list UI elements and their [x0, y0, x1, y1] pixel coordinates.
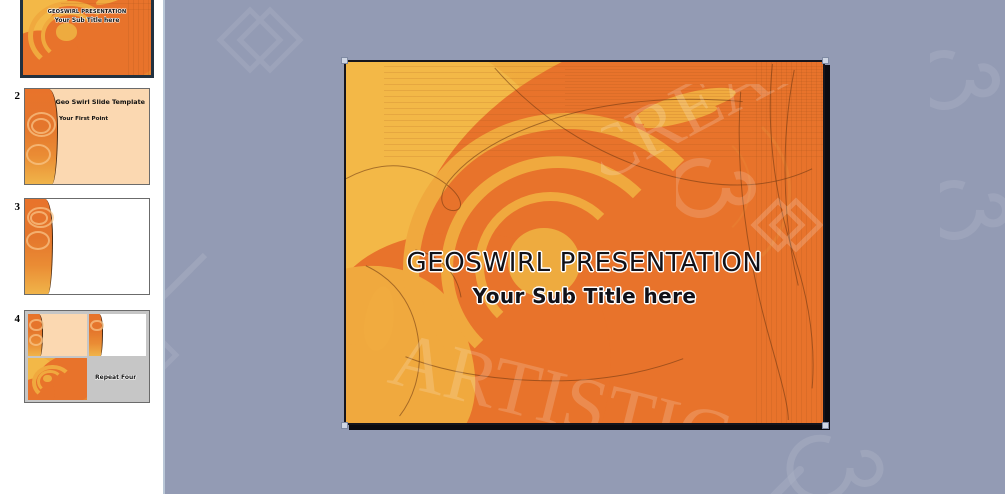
thumb1-subtitle: Your Sub Title here — [23, 17, 151, 24]
watermark-diamond-pattern-top — [210, 0, 330, 80]
thumbnail-row-3[interactable]: 3 — [0, 198, 163, 298]
slide-watermark-artistic: ARTISTIC — [386, 290, 786, 423]
svg-text:ARTISTIC: ARTISTIC — [386, 314, 739, 423]
slide-handle-top-left[interactable] — [341, 57, 348, 64]
powerpoint-window: GEOSWIRL PRESENTATION Your Sub Title her… — [0, 0, 1005, 494]
thumb4-cell-bottom-right: Repeat Four — [89, 358, 146, 400]
thumb4-art-tl — [28, 314, 87, 356]
slide-subtitle[interactable]: Your Sub Title here — [346, 284, 823, 308]
slide-thumbnail-2[interactable]: Geo Swirl Slide Template Your First Poin… — [24, 88, 150, 185]
thumb2-bullet: Your First Point — [59, 116, 108, 122]
slide-text-block[interactable]: GEOSWIRL PRESENTATION Your Sub Title her… — [346, 248, 823, 308]
thumb3-content-art — [25, 199, 149, 294]
thumb4-number: 4 — [4, 313, 20, 325]
thumbnail-row-2[interactable]: 2 Geo Swirl Slide Template Your First Po… — [0, 88, 163, 188]
slide-thumbnail-3[interactable] — [24, 198, 150, 295]
thumbnail-row-4[interactable]: 4 — [0, 310, 163, 410]
slide-title[interactable]: GEOSWIRL PRESENTATION — [346, 248, 823, 278]
slides-thumbnail-pane[interactable]: GEOSWIRL PRESENTATION Your Sub Title her… — [0, 0, 165, 494]
thumb3-number: 3 — [4, 201, 20, 213]
thumb4-art-tr — [89, 314, 146, 356]
thumbnail-row-1[interactable]: GEOSWIRL PRESENTATION Your Sub Title her… — [0, 0, 163, 80]
slide-thumbnail-4[interactable]: Repeat Four — [24, 310, 150, 403]
thumb2-title: Geo Swirl Slide Template — [55, 98, 145, 106]
thumb4-cell-bottom-left — [28, 358, 87, 400]
thumb2-number: 2 — [4, 90, 20, 102]
slide-thumbnail-1[interactable]: GEOSWIRL PRESENTATION Your Sub Title her… — [20, 0, 154, 78]
thumb4-bullet: Repeat Four — [95, 374, 136, 381]
thumb4-cell-top-right — [89, 314, 146, 356]
main-slide-canvas[interactable]: CREATIVE ARTISTIC GEOSWIRL PRESENTATION — [344, 60, 825, 425]
watermark-swirl-right-middle — [940, 150, 1005, 270]
slide-handle-bottom-right[interactable] — [822, 422, 829, 429]
thumb4-art-bl — [28, 358, 87, 400]
watermark-swirl-top-right — [930, 20, 1005, 140]
thumb1-title: GEOSWIRL PRESENTATION — [23, 9, 151, 15]
slide-handle-bottom-left[interactable] — [341, 422, 348, 429]
slide-handle-top-right[interactable] — [822, 57, 829, 64]
geoswirl-artwork: CREATIVE ARTISTIC — [346, 62, 823, 423]
thumb4-cell-top-left — [28, 314, 87, 356]
